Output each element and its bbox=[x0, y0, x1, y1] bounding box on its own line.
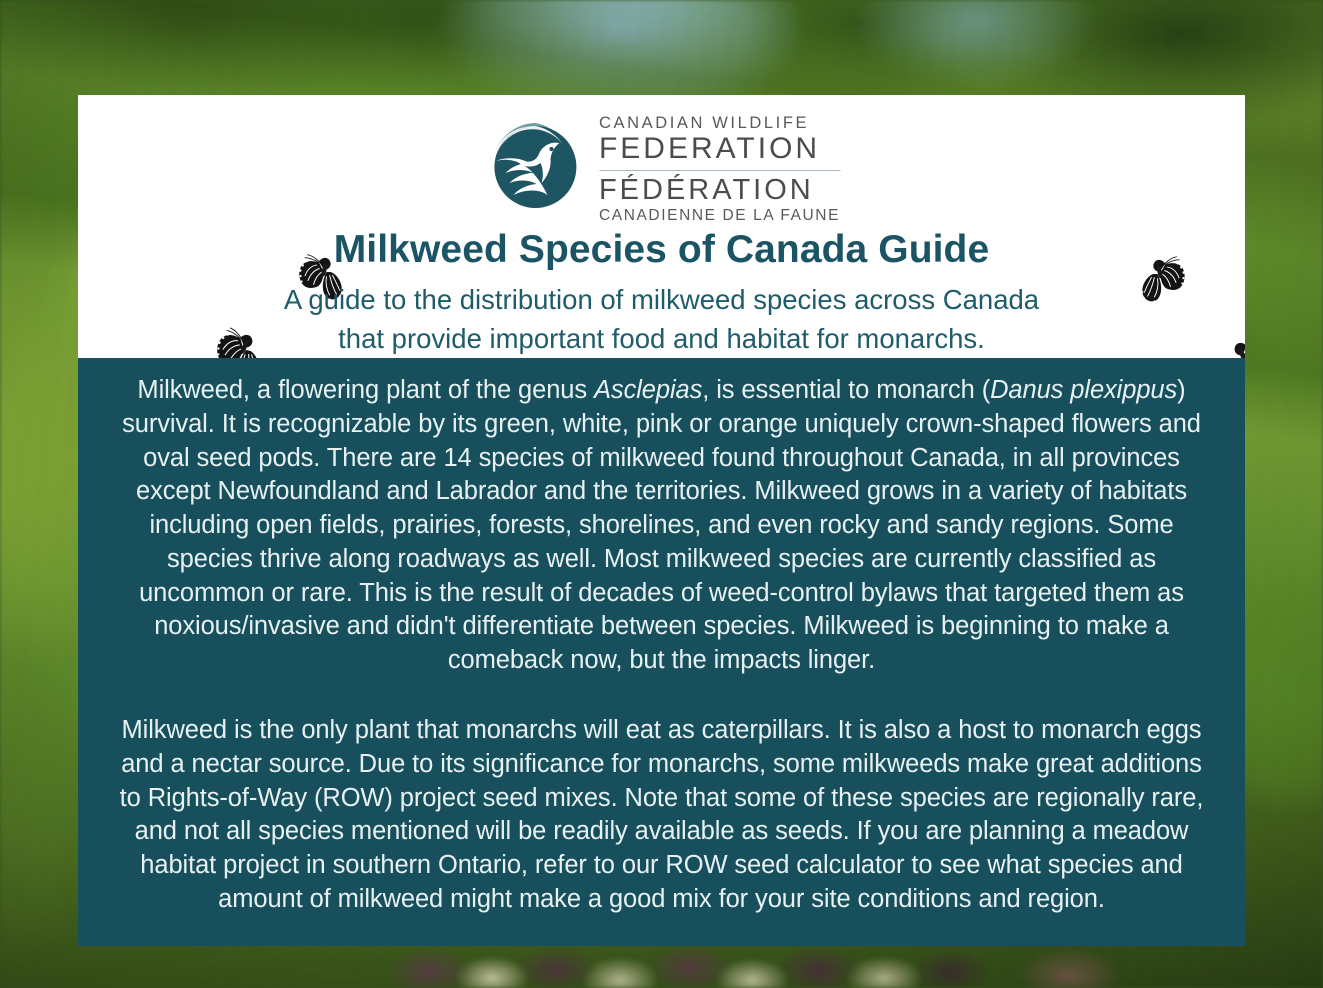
cwf-logo-wordmark: CANADIAN WILDLIFE FEDERATION FÉDÉRATION … bbox=[599, 111, 840, 224]
logo-line-federation-fr: FÉDÉRATION bbox=[599, 176, 840, 205]
p1-genus-asclepias: Asclepias bbox=[594, 376, 702, 404]
logo-divider-rule bbox=[599, 170, 840, 172]
body-paragraph-1: Milkweed, a flowering plant of the genus… bbox=[118, 374, 1205, 678]
p1-part2: , is essential to monarch ( bbox=[702, 376, 990, 404]
logo-line-canadienne-faune: CANADIENNE DE LA FAUNE bbox=[599, 208, 840, 224]
logo-line-canadian-wildlife: CANADIAN WILDLIFE bbox=[599, 115, 840, 132]
p1-part3: ) survival. It is recognizable by its gr… bbox=[122, 376, 1201, 674]
logo-line-federation: FEDERATION bbox=[599, 134, 840, 164]
flyer-page: CANADIAN WILDLIFE FEDERATION FÉDÉRATION … bbox=[0, 0, 1323, 988]
card-body: Milkweed, a flowering plant of the genus… bbox=[78, 358, 1245, 946]
cwf-goose-logo-icon bbox=[483, 117, 587, 217]
page-title: Milkweed Species of Canada Guide bbox=[78, 228, 1245, 272]
body-paragraph-2: Milkweed is the only plant that monarchs… bbox=[118, 714, 1205, 917]
cwf-logo: CANADIAN WILDLIFE FEDERATION FÉDÉRATION … bbox=[483, 111, 840, 224]
page-subtitle-line2: that provide important food and habitat … bbox=[78, 319, 1245, 358]
content-card: CANADIAN WILDLIFE FEDERATION FÉDÉRATION … bbox=[78, 95, 1245, 946]
page-subtitle-line1: A guide to the distribution of milkweed … bbox=[78, 280, 1245, 319]
card-header: CANADIAN WILDLIFE FEDERATION FÉDÉRATION … bbox=[78, 95, 1245, 358]
p1-species-danus-plexippus: Danus plexippus bbox=[990, 376, 1177, 404]
page-subtitle: A guide to the distribution of milkweed … bbox=[78, 280, 1245, 358]
p1-part1: Milkweed, a flowering plant of the genus bbox=[137, 376, 594, 404]
